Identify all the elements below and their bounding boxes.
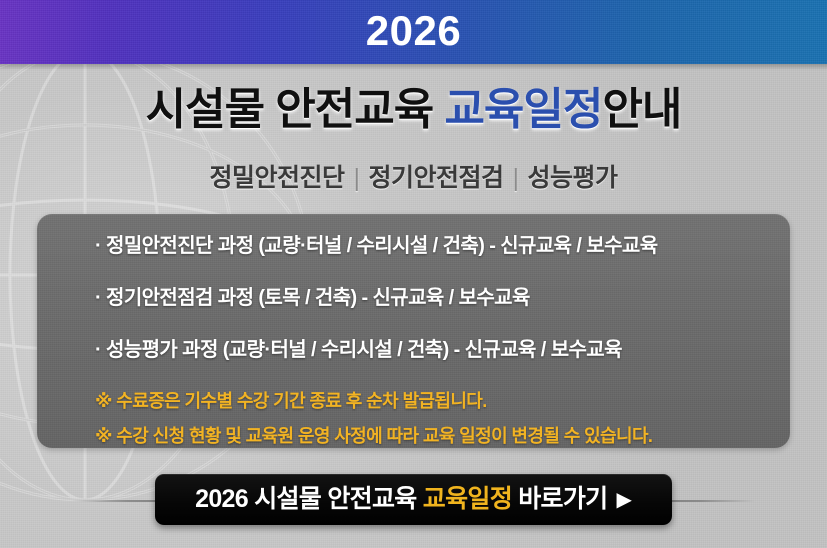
cta-divider-right	[663, 500, 755, 502]
cta-divider-left	[72, 500, 164, 502]
education-schedule-banner: 2026 시설물 안전교육 교육일정안내 정밀안전진단|정기안전점검|성능평가 …	[0, 0, 827, 548]
list-item: · 성능평가 과정 (교량·터널 / 수리시설 / 건축) - 신규교육 / 보…	[95, 340, 790, 360]
arrow-right-icon: ▶	[616, 490, 631, 510]
notice-line: ※ 수료증은 기수별 수강 기간 종료 후 순차 발급됩니다.	[95, 392, 790, 410]
notice-group: ※ 수료증은 기수별 수강 기간 종료 후 순차 발급됩니다. ※ 수강 신청 …	[95, 392, 790, 445]
page-title-part1: 시설물 안전교육	[146, 85, 445, 134]
page-title-highlight: 교육일정	[444, 85, 602, 134]
list-item: · 정밀안전진단 과정 (교량·터널 / 수리시설 / 건축) - 신규교육 /…	[95, 236, 790, 256]
page-title-part2: 안내	[602, 85, 681, 134]
cta-label-prefix: 2026 시설물 안전교육	[195, 485, 423, 513]
subtitle-separator-1: |	[344, 164, 368, 192]
subtitle: 정밀안전진단|정기안전점검|성능평가	[0, 158, 827, 194]
notice-line: ※ 수강 신청 현황 및 교육원 운영 사정에 따라 교육 일정이 변경될 수 …	[95, 427, 790, 445]
cta-label-highlight: 교육일정	[423, 485, 512, 513]
subtitle-item-1: 정밀안전진단	[209, 164, 344, 192]
year-label: 2026	[366, 10, 461, 52]
subtitle-separator-2: |	[504, 164, 528, 192]
page-title: 시설물 안전교육 교육일정안내	[0, 83, 827, 137]
subtitle-item-2: 정기안전점검	[368, 164, 503, 192]
schedule-link-button[interactable]: 2026 시설물 안전교육 교육일정 바로가기 ▶	[155, 474, 672, 525]
header-drop-shadow	[0, 64, 827, 70]
subtitle-item-3: 성능평가	[528, 164, 618, 192]
cta-label-suffix: 바로가기	[512, 485, 607, 513]
header-strip: 2026	[0, 0, 827, 64]
panel-content: · 정밀안전진단 과정 (교량·터널 / 수리시설 / 건축) - 신규교육 /…	[37, 214, 790, 445]
list-item: · 정기안전점검 과정 (토목 / 건축) - 신규교육 / 보수교육	[95, 288, 790, 308]
course-info-panel: · 정밀안전진단 과정 (교량·터널 / 수리시설 / 건축) - 신규교육 /…	[37, 214, 790, 448]
cta-button-label: 2026 시설물 안전교육 교육일정 바로가기	[195, 487, 607, 512]
